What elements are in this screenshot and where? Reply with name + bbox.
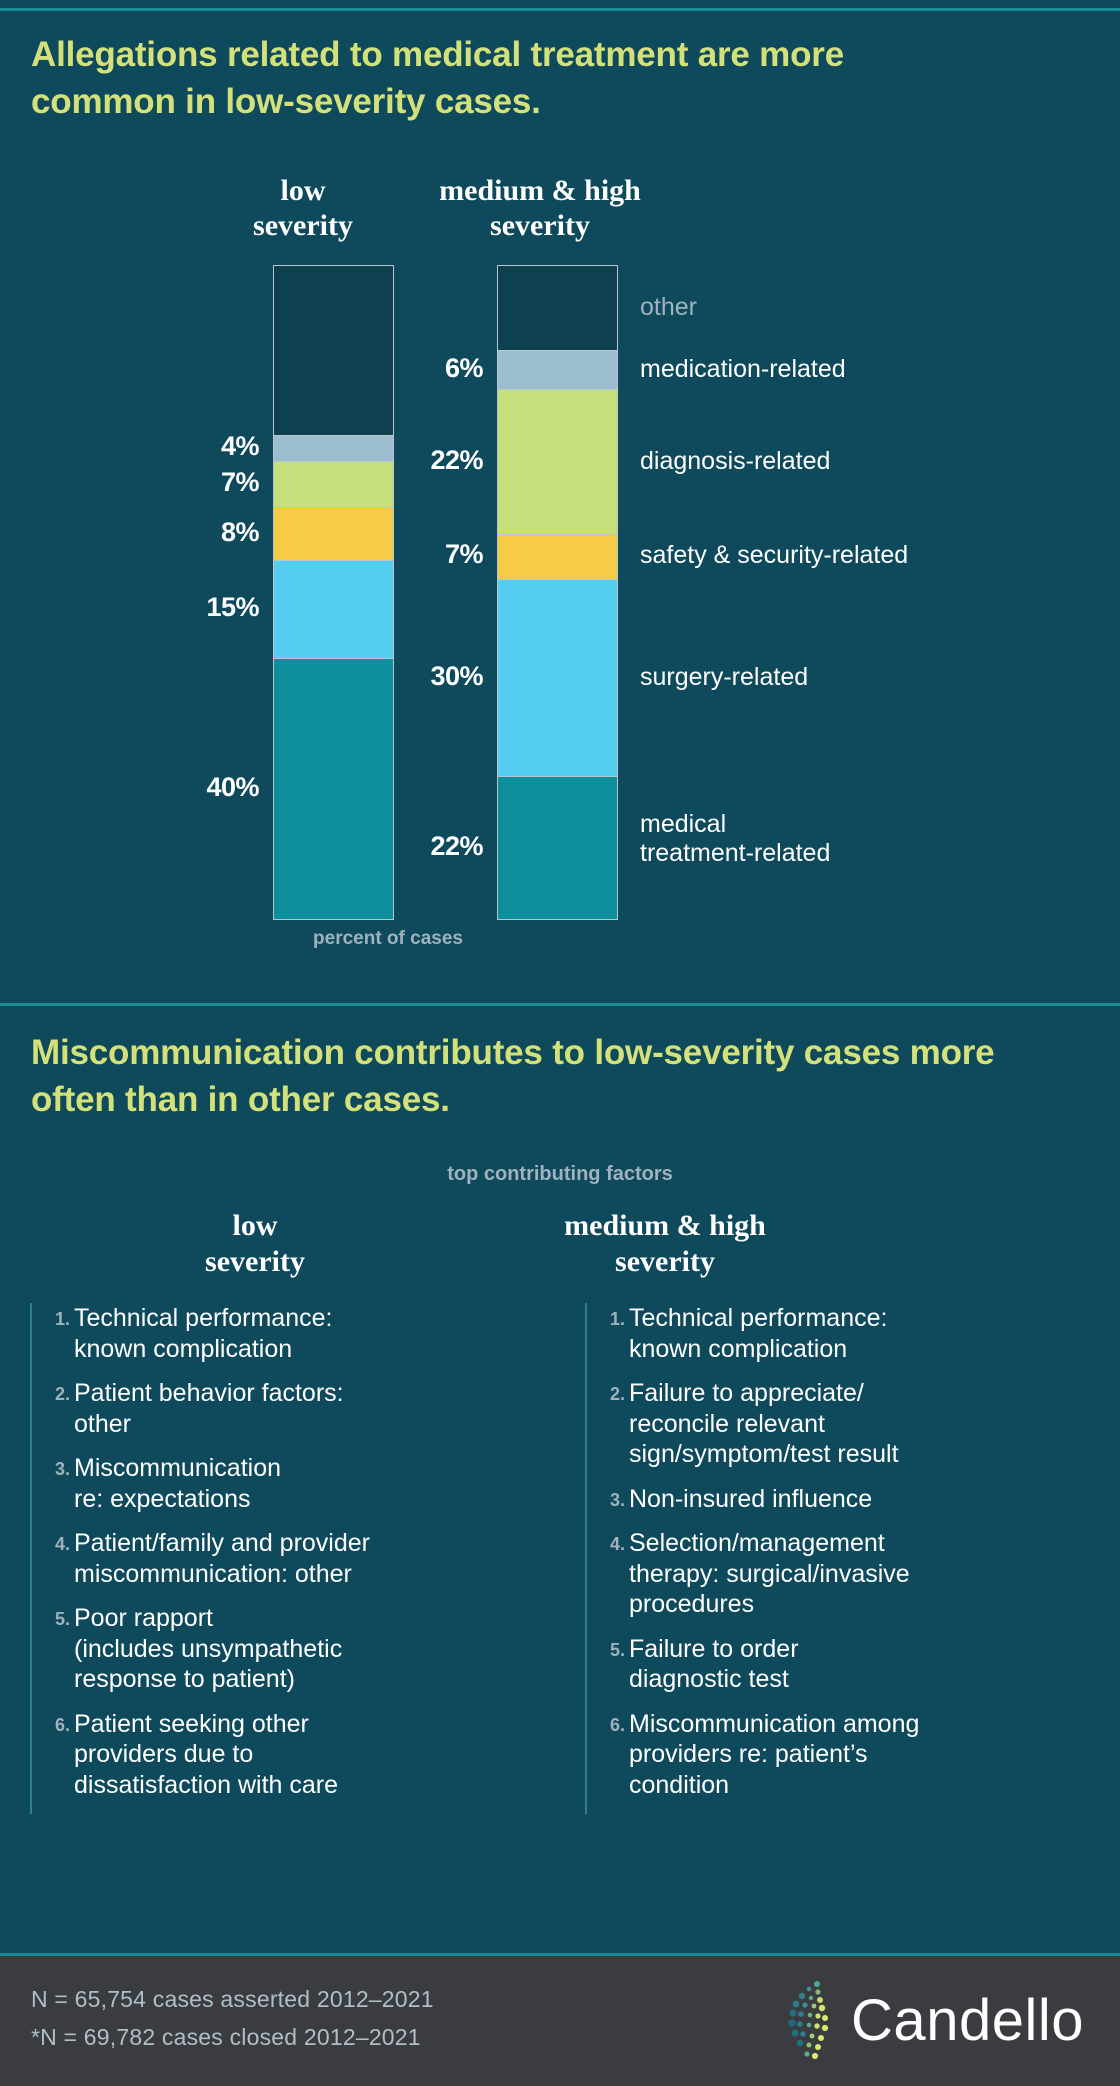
bar-segment-medical-treatment-related	[273, 658, 394, 920]
list-item-text: Miscommunication re: expectations	[74, 1453, 450, 1514]
stacked-bar-low-severity	[273, 265, 394, 920]
factors-caption: top contributing factors	[0, 1163, 1120, 1186]
footer-bar: N = 65,754 cases asserted 2012–2021 *N =…	[0, 1956, 1120, 2086]
list-item-text: Patient behavior factors: other	[74, 1378, 450, 1439]
list-item-number: 6.	[44, 1709, 74, 1736]
list-item-number: 3.	[599, 1484, 629, 1511]
list-item-number: 6.	[599, 1709, 629, 1736]
section-divider	[0, 1003, 1120, 1006]
candello-logo: Candello	[787, 1978, 1084, 2064]
bar-segment-diagnosis-related	[497, 389, 618, 533]
list-item-text: Technical performance: known complicatio…	[629, 1303, 1005, 1364]
list-item-text: Patient/family and provider miscommunica…	[74, 1528, 450, 1589]
chart-axis-caption: percent of cases	[273, 928, 503, 950]
bar-segment-diagnosis-related	[273, 461, 394, 507]
chart-column-title-medium-high: medium & high severity	[375, 174, 705, 243]
list-item: 4.Patient/family and provider miscommuni…	[44, 1528, 450, 1589]
bar-value-label: 22%	[393, 831, 483, 862]
list-item: 5.Failure to order diagnostic test	[599, 1634, 1005, 1695]
list-item-number: 4.	[599, 1528, 629, 1555]
bar-segment-other	[273, 265, 394, 435]
legend-label-safety-security-related: safety & security-related	[640, 541, 908, 570]
section1-headline: Allegations related to medical treatment…	[31, 32, 971, 125]
list-item-text: Failure to appreciate/ reconcile relevan…	[629, 1378, 1005, 1470]
bar-value-label: 30%	[393, 661, 483, 692]
bar-segment-medical-treatment-related	[497, 776, 618, 920]
footnote-asserted: N = 65,754 cases asserted 2012–2021	[31, 1986, 434, 2013]
list-item-number: 1.	[599, 1303, 629, 1330]
factors-column-title-low: low severity	[90, 1208, 420, 1280]
list-item-number: 2.	[599, 1378, 629, 1405]
list-item-text: Failure to order diagnostic test	[629, 1634, 1005, 1695]
factors-column-title-medium-high: medium & high severity	[500, 1208, 830, 1280]
infographic-page: Allegations related to medical treatment…	[0, 0, 1120, 2086]
legend-label-medical-treatment-related: medical treatment-related	[640, 810, 830, 868]
bar-segment-medication-related	[497, 350, 618, 389]
list-item-text: Patient seeking other providers due to d…	[74, 1709, 450, 1801]
stacked-bar-medium-high-severity	[497, 265, 618, 920]
candello-wordmark: Candello	[851, 1992, 1084, 2050]
list-item: 1.Technical performance: known complicat…	[599, 1303, 1005, 1364]
list-item-number: 5.	[44, 1603, 74, 1630]
bar-value-label: 7%	[393, 539, 483, 570]
bar-segment-safety-security-related	[497, 534, 618, 580]
list-item: 6.Miscommunication among providers re: p…	[599, 1709, 1005, 1801]
list-item: 3.Non-insured influence	[599, 1484, 1005, 1515]
bar-value-label: 7%	[149, 467, 259, 498]
list-item-number: 4.	[44, 1528, 74, 1555]
list-item-number: 1.	[44, 1303, 74, 1330]
list-item: 2.Patient behavior factors: other	[44, 1378, 450, 1439]
bar-value-label: 4%	[149, 431, 259, 462]
candello-leaf-icon	[787, 1978, 845, 2064]
bar-segment-other	[497, 265, 618, 350]
footnote-closed: *N = 69,782 cases closed 2012–2021	[31, 2024, 421, 2051]
list-item: 5.Poor rapport (includes unsympathetic r…	[44, 1603, 450, 1695]
list-item-text: Poor rapport (includes unsympathetic res…	[74, 1603, 450, 1695]
list-item-text: Selection/management therapy: surgical/i…	[629, 1528, 1005, 1620]
list-item: 3.Miscommunication re: expectations	[44, 1453, 450, 1514]
list-item: 2.Failure to appreciate/ reconcile relev…	[599, 1378, 1005, 1470]
legend-label-medication-related: medication-related	[640, 355, 846, 384]
list-item-text: Miscommunication among providers re: pat…	[629, 1709, 1005, 1801]
bar-segment-medication-related	[273, 435, 394, 461]
bar-value-label: 15%	[149, 592, 259, 623]
legend-label-surgery-related: surgery-related	[640, 663, 808, 692]
list-item-number: 3.	[44, 1453, 74, 1480]
list-item-text: Non-insured influence	[629, 1484, 1005, 1515]
list-item-number: 2.	[44, 1378, 74, 1405]
list-item-number: 5.	[599, 1634, 629, 1661]
list-item: 6.Patient seeking other providers due to…	[44, 1709, 450, 1801]
factors-list-low-severity: 1.Technical performance: known complicat…	[30, 1303, 450, 1814]
bar-segment-surgery-related	[497, 579, 618, 776]
bar-segment-surgery-related	[273, 560, 394, 658]
bar-value-label: 22%	[393, 445, 483, 476]
legend-label-diagnosis-related: diagnosis-related	[640, 447, 830, 476]
list-item-text: Technical performance: known complicatio…	[74, 1303, 450, 1364]
bar-value-label: 40%	[149, 772, 259, 803]
legend-label-other: other	[640, 293, 697, 322]
section2-headline: Miscommunication contributes to low-seve…	[31, 1030, 1071, 1123]
bar-value-label: 6%	[393, 353, 483, 384]
factors-list-medium-high-severity: 1.Technical performance: known complicat…	[585, 1303, 1005, 1814]
bar-segment-safety-security-related	[273, 507, 394, 559]
chart-column-title-low: low severity	[213, 174, 393, 243]
list-item: 1.Technical performance: known complicat…	[44, 1303, 450, 1364]
list-item: 4.Selection/management therapy: surgical…	[599, 1528, 1005, 1620]
top-divider	[0, 8, 1120, 11]
bar-value-label: 8%	[149, 517, 259, 548]
